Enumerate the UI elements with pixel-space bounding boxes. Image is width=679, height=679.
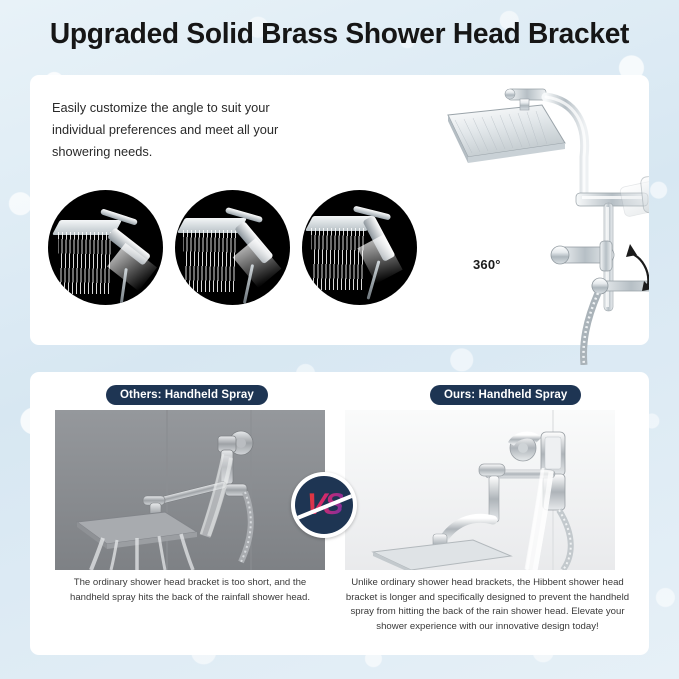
rotation-degree-label: 360° <box>473 257 501 272</box>
comparison-image-others <box>55 410 325 570</box>
badge-ours: Ours: Handheld Spray <box>430 385 581 405</box>
feature-card-angle: Easily customize the angle to suit your … <box>30 75 649 345</box>
angle-thumbnail-1 <box>48 190 163 305</box>
caption-others: The ordinary shower head bracket is too … <box>55 576 325 605</box>
angle-thumbnail-2 <box>175 190 290 305</box>
water-spray <box>311 228 365 290</box>
vs-badge-circle: VS <box>295 476 353 534</box>
handheld-jet <box>107 243 157 291</box>
handheld-jet <box>233 238 282 288</box>
intro-text: Easily customize the angle to suit your … <box>52 97 320 163</box>
page-title: Upgraded Solid Brass Shower Head Bracket <box>10 18 669 51</box>
ours-scene-svg <box>345 410 615 570</box>
water-spray <box>183 230 237 292</box>
hero-product-image: 360° <box>360 75 649 365</box>
caption-ours: Unlike ordinary shower head brackets, th… <box>345 576 630 634</box>
comparison-image-ours <box>345 410 615 570</box>
water-spray <box>58 232 112 294</box>
hero-product-svg <box>360 75 649 365</box>
badge-others: Others: Handheld Spray <box>106 385 268 405</box>
others-scene-svg <box>55 410 325 570</box>
vs-badge: VS <box>291 472 357 538</box>
